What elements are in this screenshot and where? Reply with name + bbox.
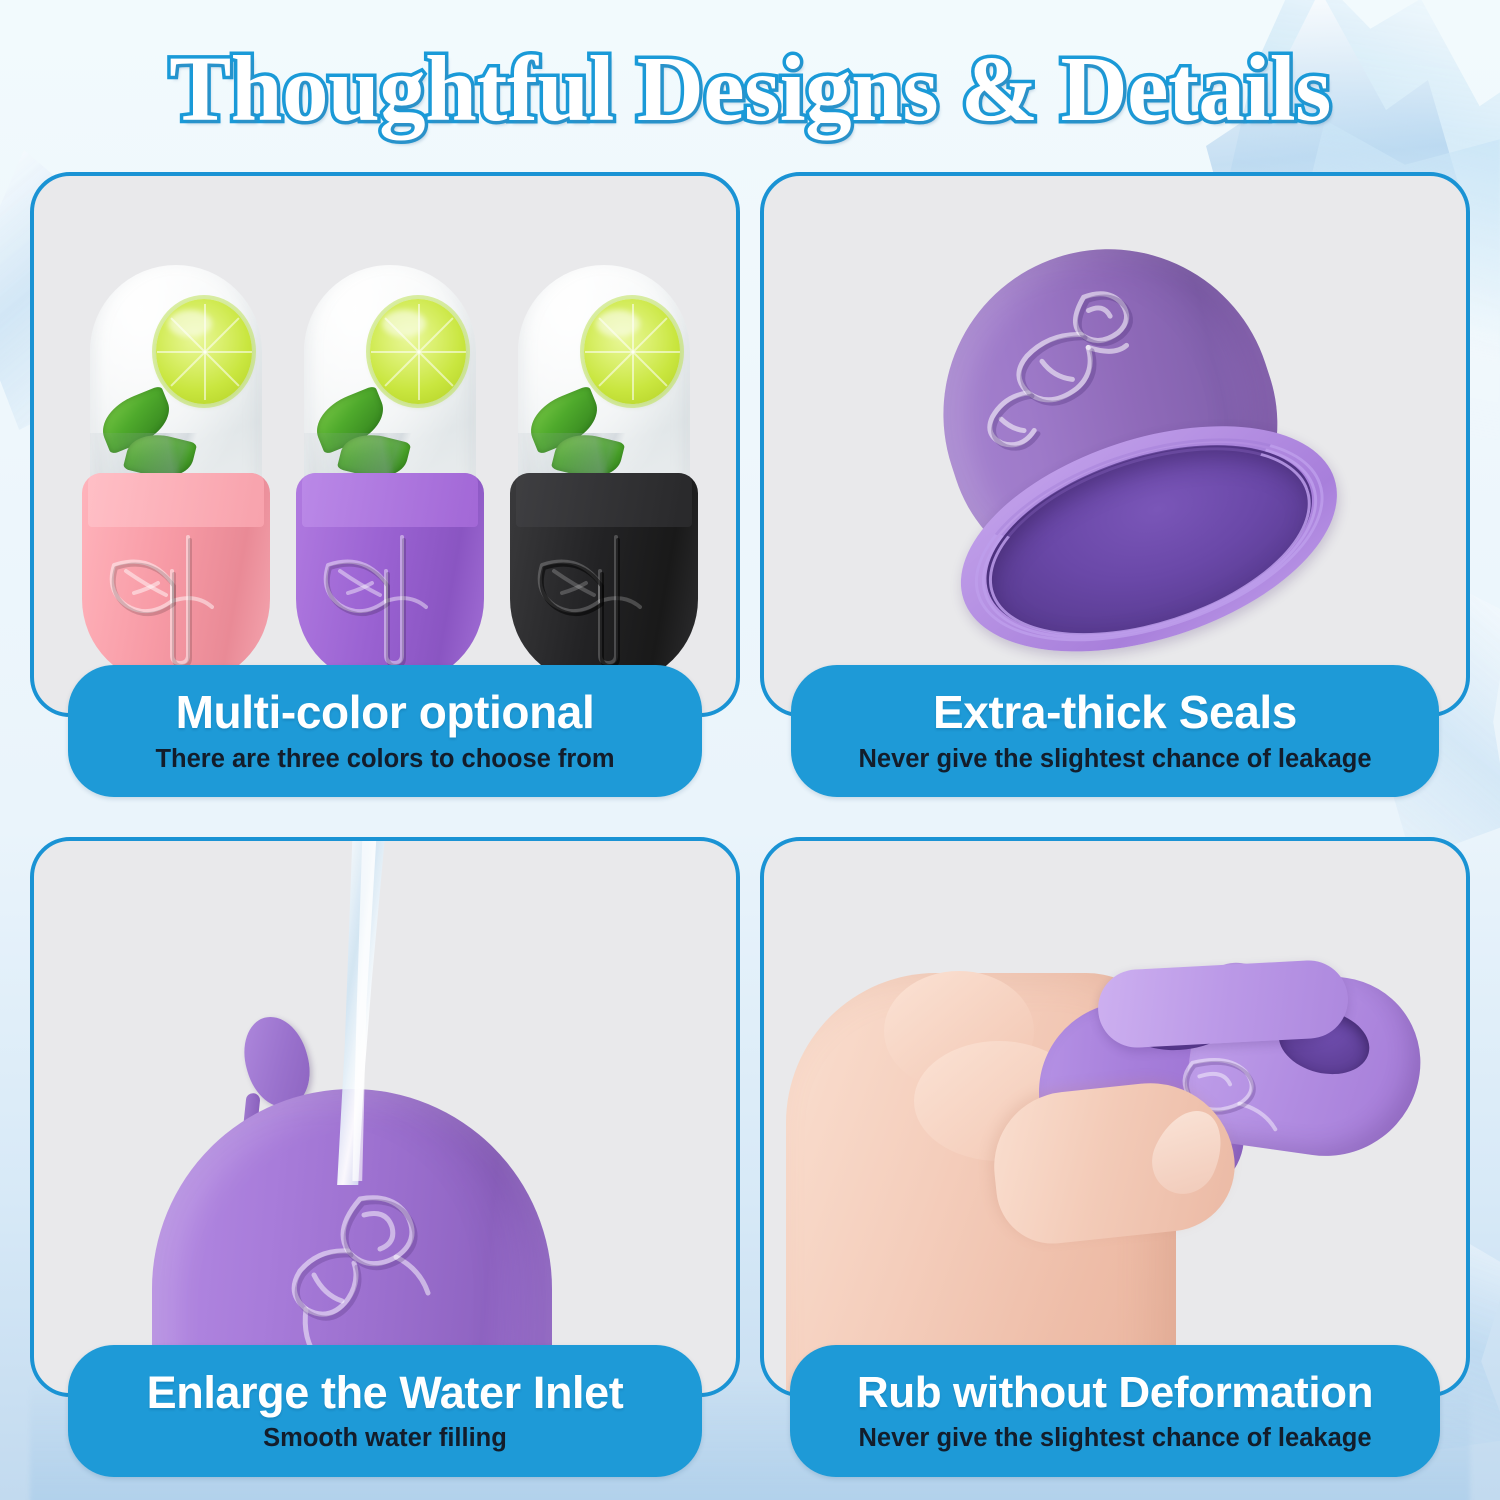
mint-leaf-icon [522, 385, 606, 455]
black-ice-mold [510, 265, 698, 685]
feature-cell-extra-thick-seals: Extra-thick Seals Never give the slighte… [760, 172, 1470, 797]
feature-subtitle: Smooth water filling [263, 1424, 507, 1452]
feature-title: Enlarge the Water Inlet [147, 1370, 624, 1417]
product-photo-water-inlet [34, 841, 736, 1393]
lime-slice-icon [584, 299, 680, 404]
silicone-body [82, 473, 270, 685]
product-photo-tilted-cup [764, 176, 1466, 713]
feature-banner-multi-color: Multi-color optional There are three col… [68, 665, 702, 797]
silicone-collar [516, 473, 692, 527]
feature-title: Rub without Deformation [857, 1370, 1373, 1416]
silicone-body [296, 473, 484, 685]
feature-title: Multi-color optional [176, 689, 595, 737]
mint-leaf-icon [308, 385, 392, 455]
embossed-rose-leaf-icon [100, 531, 250, 671]
feature-banner-rub-without-deformation: Rub without Deformation Never give the s… [790, 1345, 1440, 1477]
page-title-container: Thoughtful Designs & Details [0, 34, 1500, 144]
pink-ice-mold [82, 265, 270, 685]
mint-leaf-icon [94, 385, 178, 455]
cup-folded-rim [1096, 959, 1350, 1050]
feature-panel-image-multi-color [30, 172, 740, 717]
page-title: Thoughtful Designs & Details [169, 43, 1331, 136]
embossed-rose-leaf-icon [528, 531, 678, 671]
feature-banner-extra-thick-seals: Extra-thick Seals Never give the slighte… [791, 665, 1439, 797]
feature-title: Extra-thick Seals [933, 689, 1297, 737]
feature-cell-enlarge-water-inlet: Enlarge the Water Inlet Smooth water fil… [30, 837, 740, 1462]
feature-cell-multi-color-optional: Multi-color optional There are three col… [30, 172, 740, 797]
feature-banner-enlarge-water-inlet: Enlarge the Water Inlet Smooth water fil… [68, 1345, 702, 1477]
silicone-collar [302, 473, 478, 527]
purple-ice-mold [296, 265, 484, 685]
product-photo-hand-squeeze [764, 841, 1466, 1393]
feature-grid: Multi-color optional There are three col… [30, 172, 1470, 1472]
silicone-body [510, 473, 698, 685]
lime-slice-icon [370, 299, 466, 404]
feature-subtitle: There are three colors to choose from [155, 745, 614, 773]
embossed-rose-leaf-icon [314, 531, 464, 671]
silicone-cup [862, 191, 1385, 701]
feature-panel-image-extra-thick-seals [760, 172, 1470, 717]
silicone-collar [88, 473, 264, 527]
feature-subtitle: Never give the slightest chance of leaka… [858, 745, 1371, 773]
lime-slice-icon [156, 299, 252, 404]
feature-panel-image-rub-without-deformation [760, 837, 1470, 1397]
feature-panel-image-enlarge-water-inlet [30, 837, 740, 1397]
product-photo-three-molds [34, 176, 736, 713]
feature-subtitle: Never give the slightest chance of leaka… [858, 1424, 1371, 1452]
feature-cell-rub-without-deformation: Rub without Deformation Never give the s… [760, 837, 1470, 1462]
